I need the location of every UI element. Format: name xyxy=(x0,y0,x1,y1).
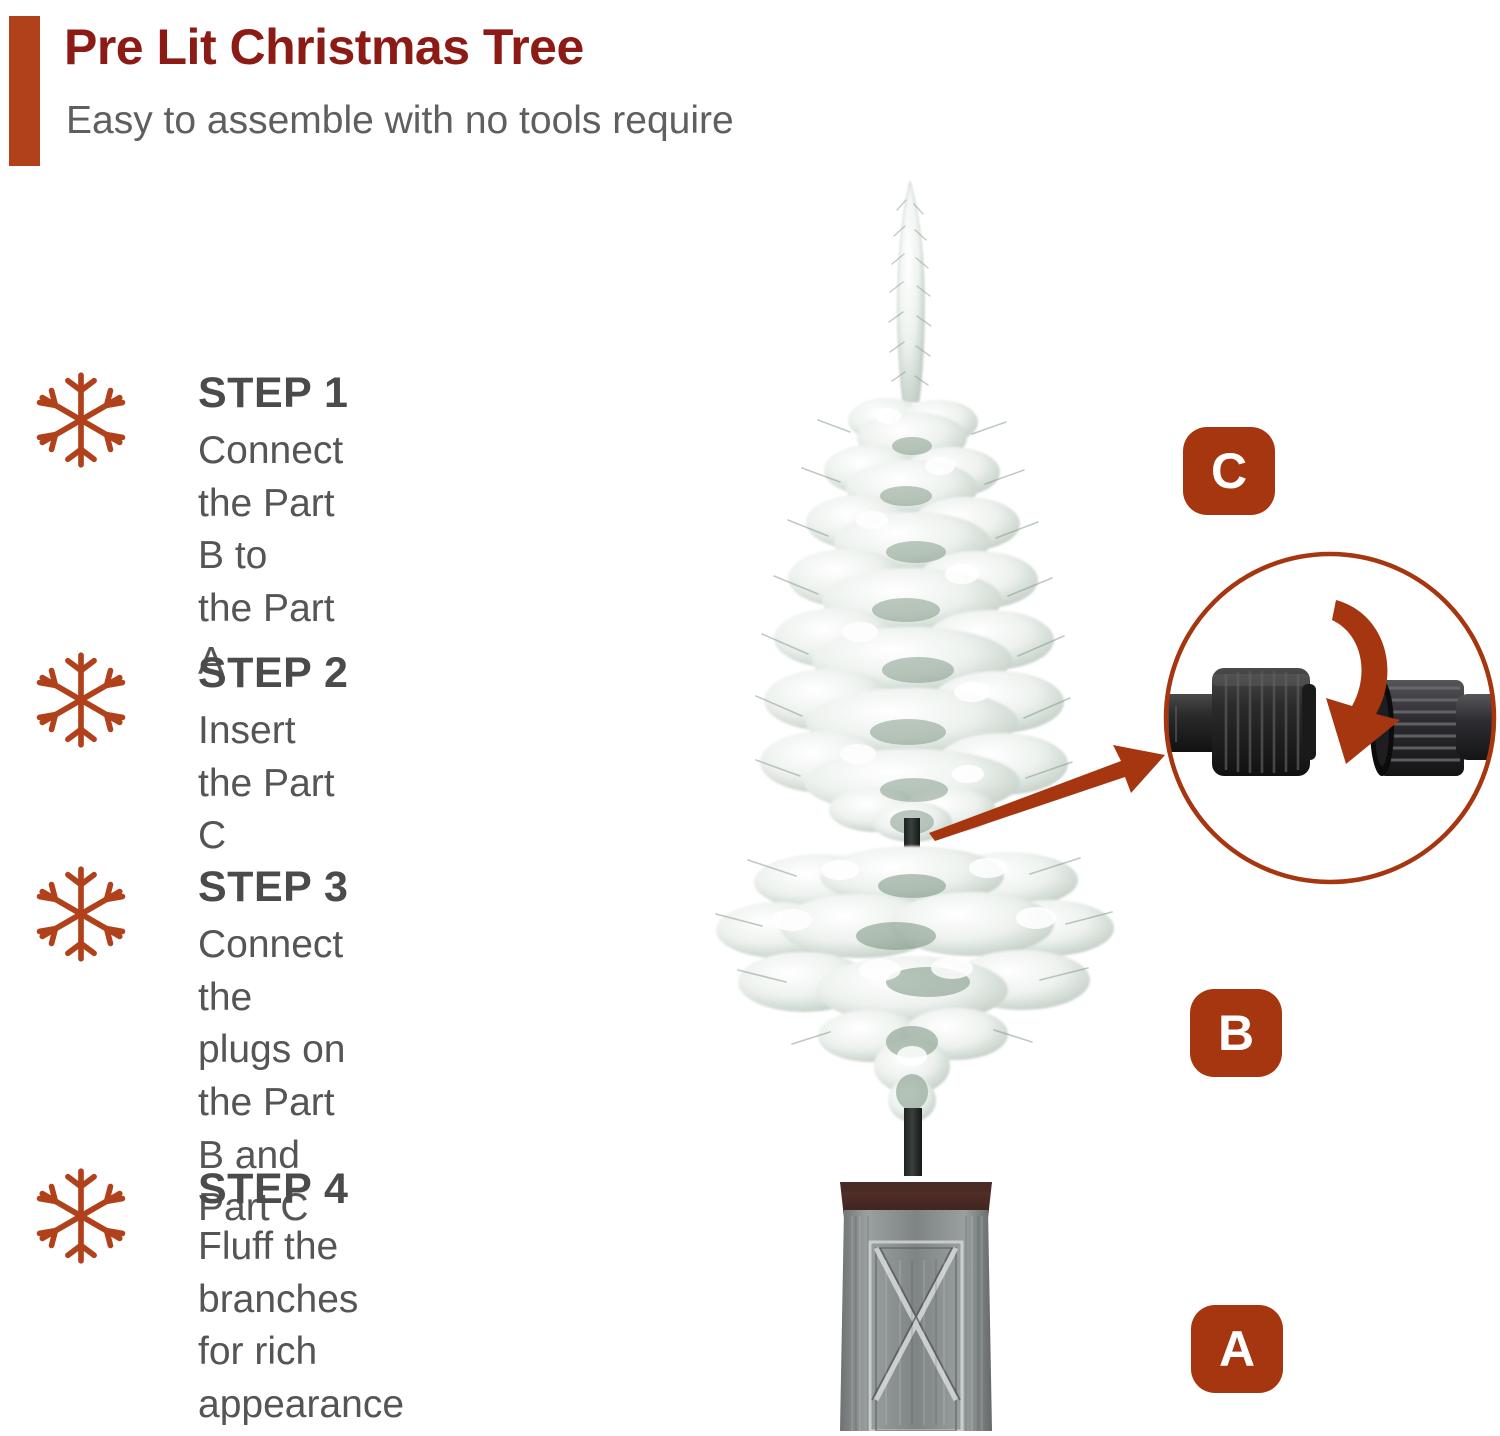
step-text-2: STEP 2 Insert the Part C xyxy=(198,652,348,863)
step-body-4: Fluff the branches for rich appearance xyxy=(198,1221,404,1432)
step-title-1: STEP 1 xyxy=(198,372,348,415)
planter-base-A xyxy=(840,1182,992,1431)
step-text-1: STEP 1 Connect the Part B to the Part A xyxy=(198,372,348,688)
female-plug-collar xyxy=(1150,668,1316,776)
header-accent-bar xyxy=(9,16,40,166)
snowflake-icon xyxy=(22,1168,140,1264)
page-title: Pre Lit Christmas Tree xyxy=(64,18,584,76)
page-header: Pre Lit Christmas Tree Easy to assemble … xyxy=(0,0,1500,180)
step-title-4: STEP 4 xyxy=(198,1168,404,1211)
step-title-3: STEP 3 xyxy=(198,866,348,909)
part-badge-b: B xyxy=(1190,989,1282,1077)
step-text-4: STEP 4 Fluff the branches for rich appea… xyxy=(198,1168,404,1432)
lower-tree-section-B xyxy=(716,846,1114,1122)
part-badge-a: A xyxy=(1191,1305,1283,1393)
lower-section-trunk xyxy=(904,1108,922,1176)
snowflake-icon xyxy=(22,372,140,468)
part-badge-c: C xyxy=(1183,427,1275,515)
snowflake-icon xyxy=(22,866,140,962)
step-title-2: STEP 2 xyxy=(198,652,348,695)
snowflake-icon xyxy=(22,652,140,748)
page-subtitle: Easy to assemble with no tools require xyxy=(66,99,734,143)
plug-connector-detail xyxy=(1150,548,1500,888)
step-body-2: Insert the Part C xyxy=(198,705,348,863)
